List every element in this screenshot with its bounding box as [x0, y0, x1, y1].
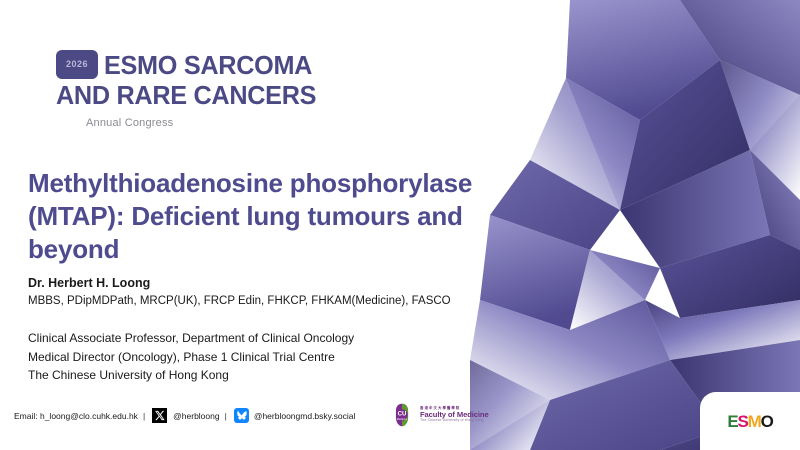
esmo-letter-o: O: [761, 413, 773, 430]
cuhk-university-name: The Chinese University of Hong Kong: [420, 419, 489, 423]
affiliation-line: Medical Director (Oncology), Phase 1 Cli…: [28, 348, 498, 367]
congress-logo-line2: AND RARE CANCERS: [56, 82, 376, 108]
congress-logo-subtitle: Annual Congress: [86, 117, 386, 129]
presenter-name: Dr. Herbert H. Loong: [28, 275, 488, 292]
contact-separator: |: [143, 411, 145, 421]
presenter-block: Dr. Herbert H. Loong MBBS, PDipMDPath, M…: [28, 275, 488, 309]
affiliation-line: Clinical Associate Professor, Department…: [28, 329, 498, 348]
congress-logo: 2026 ESMO SARCOMA AND RARE CANCERS Annua…: [56, 50, 386, 129]
congress-year-text: 2026: [66, 60, 88, 69]
x-handle-text: @herbloong: [173, 411, 219, 421]
title-slide: 2026 ESMO SARCOMA AND RARE CANCERS Annua…: [0, 0, 800, 450]
presenter-affiliations: Clinical Associate Professor, Department…: [28, 329, 498, 385]
svg-text:Medicine: Medicine: [397, 417, 408, 421]
cuhk-faculty-of-medicine-logo: CU Medicine 香港中文大學醫學院 Faculty of Medicin…: [389, 402, 489, 428]
esmo-footer-card: ESMO: [700, 392, 800, 450]
affiliation-line: The Chinese University of Hong Kong: [28, 366, 498, 385]
congress-year-badge: 2026: [56, 50, 98, 79]
esmo-letter-m: M: [748, 413, 761, 430]
contact-separator: |: [225, 411, 227, 421]
x-twitter-icon[interactable]: [152, 408, 167, 423]
svg-text:CU: CU: [398, 411, 407, 417]
slide-title: Methylthioadenosine phosphorylase (MTAP)…: [28, 167, 488, 266]
esmo-letter-s: S: [738, 413, 748, 430]
presenter-degrees: MBBS, PDipMDPath, MRCP(UK), FRCP Edin, F…: [28, 293, 488, 309]
contact-bar: Email: h_loong@clo.cuhk.edu.hk | @herblo…: [14, 408, 355, 423]
esmo-letter-e: E: [727, 413, 737, 430]
bluesky-handle-text: @herbloongmd.bsky.social: [254, 411, 356, 421]
esmo-logo: ESMO: [727, 413, 772, 430]
decorative-polygon-artwork: [470, 0, 800, 450]
congress-logo-line1: ESMO SARCOMA: [104, 52, 312, 78]
cu-medicine-shield-icon: CU Medicine: [389, 402, 415, 428]
email-text: Email: h_loong@clo.cuhk.edu.hk: [14, 411, 138, 421]
bluesky-butterfly-icon[interactable]: [234, 408, 249, 423]
